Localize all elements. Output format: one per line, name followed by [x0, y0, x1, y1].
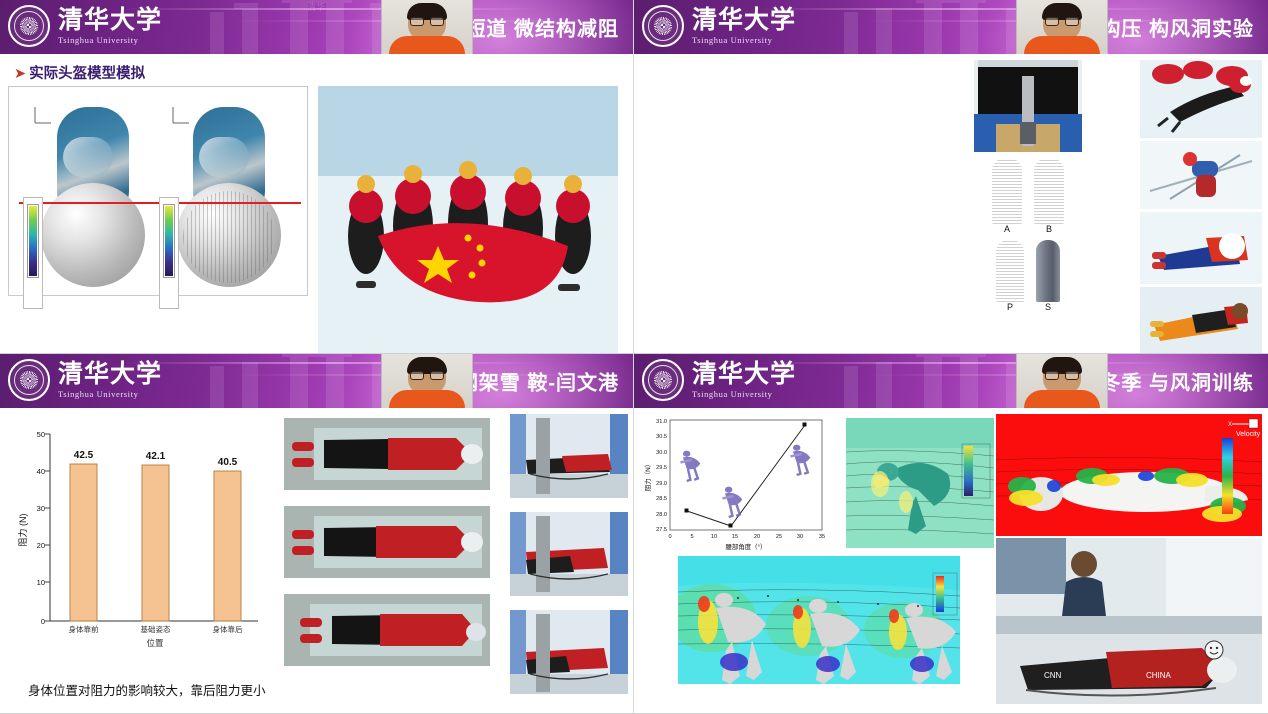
colorbar-right: [159, 197, 179, 309]
svg-text:CNN: CNN: [1044, 671, 1062, 680]
chart-caption: 身体位置对阻力的影响较大，靠后阻力更小: [28, 680, 266, 699]
university-name-en: Tsinghua University: [692, 35, 796, 45]
university-logo: 清华大学 Tsinghua University: [642, 5, 796, 47]
svg-text:30.0: 30.0: [656, 450, 667, 456]
photo-skeleton-side-view-1: [510, 414, 628, 498]
photo-skeleton-top-view-1: [284, 418, 490, 490]
bar-1: [142, 465, 169, 621]
slide-winter-training: 清华大学 Tsinghua University 冬季 与风洞训练 31.030…: [634, 354, 1268, 714]
slide-title: 冬季 与风洞训练: [1100, 367, 1254, 396]
slide-skeleton: 清华大学 Tsinghua University 钢架雪 鞍-闫文港 50403…: [0, 354, 634, 714]
cfd-luge-velocity-contour: Velocity X: [996, 414, 1262, 536]
svg-text:29.5: 29.5: [656, 465, 667, 471]
colorbar-label: Velocity: [1236, 431, 1261, 438]
colorbar-left: [23, 197, 43, 309]
skeleton-topview-column: [284, 418, 490, 666]
svg-text:身体靠前: 身体靠前: [69, 624, 99, 634]
glasses-icon: [1045, 17, 1079, 26]
photo-skeleton-side-view-3: [510, 610, 628, 694]
slide-title: 短道 微结构减阻: [465, 13, 619, 42]
cfd-helmet-panel: [8, 86, 308, 296]
cfd-helmet-dimpled: [169, 107, 289, 287]
svg-text:10: 10: [711, 534, 717, 540]
glasses-icon: [410, 371, 444, 380]
slide-short-track: 清华 清华大学 Tsinghua University 短道 微结构减阻: [0, 0, 634, 354]
x-axis-label: 腰部角度（°）: [726, 542, 767, 551]
photo-skeleton-athlete: [1140, 212, 1262, 284]
svg-text:20: 20: [754, 534, 760, 540]
slide-header: 清华大学 Tsinghua University 冬季 与风洞训练: [634, 354, 1268, 408]
slide-header: 清华 清华大学 Tsinghua University 短道 微结构减阻: [0, 0, 633, 54]
university-name-en: Tsinghua University: [58, 35, 162, 45]
cylinder-specimen-a: A: [992, 158, 1022, 234]
svg-text:身体靠后: 身体靠后: [213, 624, 243, 634]
slide-title: 钢架雪 鞍-闫文港: [458, 367, 619, 396]
university-logo: 清华大学 Tsinghua University: [8, 5, 162, 47]
axis-triad-icon: [13, 93, 313, 133]
svg-text:0: 0: [668, 534, 671, 540]
svg-text:CHINA: CHINA: [1146, 671, 1172, 680]
svg-text:28.0: 28.0: [656, 512, 667, 518]
svg-text:10: 10: [37, 578, 45, 587]
bar-2: [214, 471, 241, 621]
tsinghua-seal-icon: [8, 359, 50, 401]
svg-text:29.0: 29.0: [656, 481, 667, 487]
slide-dimple-wind-tunnel: 清华大学 Tsinghua University 凹坑结构压 构风洞实验: [634, 0, 1268, 354]
svg-text:清华: 清华: [307, 1, 325, 12]
university-name-en: Tsinghua University: [692, 389, 796, 399]
x-axis-label: 位置: [146, 638, 164, 648]
svg-text:42.5: 42.5: [74, 450, 94, 461]
presenter-webcam: [1016, 0, 1108, 54]
university-logo: 清华大学 Tsinghua University: [8, 359, 162, 401]
svg-text:20: 20: [37, 541, 45, 550]
presenter-webcam: [381, 354, 473, 408]
svg-text:0: 0: [41, 617, 45, 626]
university-name-cn: 清华大学: [692, 8, 796, 33]
university-logo: 清华大学 Tsinghua University: [642, 359, 796, 401]
slide-body: 31.030.530.0 29.529.028.5 28.027.5 阻力（N）…: [634, 408, 1268, 714]
university-name-en: Tsinghua University: [58, 389, 162, 399]
svg-text:31.0: 31.0: [656, 419, 667, 425]
photo-wind-tunnel-test-section: [974, 60, 1082, 152]
cfd-speed-skater-streamlines: [846, 418, 994, 548]
presenter-webcam: [381, 0, 473, 54]
drag-vs-position-chart: 504030 20100 阻力 (N) 42.542.140.5: [10, 420, 280, 670]
svg-text:28.5: 28.5: [656, 496, 667, 502]
svg-text:40.5: 40.5: [218, 457, 238, 468]
cfd-helmet-smooth: [33, 107, 153, 287]
university-name-cn: 清华大学: [58, 8, 162, 33]
svg-text:27.5: 27.5: [656, 527, 667, 533]
photo-skeleton-top-view-3: [284, 594, 490, 666]
slide-header: 清华大学 Tsinghua University 凹坑结构压 构风洞实验: [634, 0, 1268, 54]
bar-0: [70, 464, 97, 621]
university-name-cn: 清华大学: [692, 362, 796, 387]
photo-luge-athlete: [1140, 287, 1262, 353]
university-name-cn: 清华大学: [58, 362, 162, 387]
cylinder-specimen-grid: A B P S: [974, 158, 1082, 312]
svg-text:42.1: 42.1: [146, 451, 166, 462]
svg-text:基础姿态: 基础姿态: [141, 624, 171, 634]
photo-luge-wind-tunnel-test: CNNCHINA: [996, 538, 1262, 704]
cylinder-specimen-p: P: [996, 240, 1024, 312]
y-axis-label: 阻力 (N): [17, 514, 28, 547]
svg-text:30: 30: [797, 534, 803, 540]
slide-body: ➤实际头盔模型模拟: [0, 54, 633, 354]
photo-skeleton-top-view-2: [284, 506, 490, 578]
slide-header: 清华大学 Tsinghua University 钢架雪 鞍-闫文港: [0, 354, 633, 408]
svg-text:25: 25: [776, 534, 782, 540]
svg-text:5: 5: [690, 534, 693, 540]
svg-text:15: 15: [732, 534, 738, 540]
svg-text:50: 50: [37, 430, 45, 439]
glasses-icon: [1045, 371, 1079, 380]
photo-skeleton-side-view-2: [510, 512, 628, 596]
svg-text:X: X: [1228, 422, 1232, 428]
photo-ski-jumper: [1140, 141, 1262, 209]
cylinder-specimen-s: S: [1036, 240, 1060, 312]
tsinghua-seal-icon: [8, 5, 50, 47]
svg-text:40: 40: [37, 467, 45, 476]
svg-text:30.5: 30.5: [656, 434, 667, 440]
drag-vs-waist-angle-chart: 31.030.530.0 29.529.028.5 28.027.5 阻力（N）…: [638, 414, 838, 554]
tsinghua-seal-icon: [642, 5, 684, 47]
sports-photo-column: [1140, 60, 1262, 353]
cylinder-specimen-b: B: [1034, 158, 1064, 234]
header-streak: [123, 8, 543, 10]
y-axis-label: 阻力（N）: [643, 461, 652, 491]
slide-body: 504030 20100 阻力 (N) 42.542.140.5: [0, 408, 633, 714]
tsinghua-seal-icon: [642, 359, 684, 401]
bullet-arrow-icon: ➤: [14, 66, 26, 82]
slide-grid: 清华 清华大学 Tsinghua University 短道 微结构减阻: [0, 0, 1268, 714]
photo-short-track-team-flag: [318, 86, 618, 354]
photo-short-track-skater: [1140, 60, 1262, 138]
svg-text:35: 35: [819, 534, 825, 540]
bar-group: [70, 464, 241, 621]
skeleton-sideview-column: [510, 414, 628, 694]
section-heading: ➤实际头盔模型模拟: [14, 62, 145, 83]
x-axis-ticks: 身体靠前基础姿态身体靠后: [69, 624, 243, 634]
svg-text:30: 30: [37, 504, 45, 513]
slide-body: 胳膊 大腿 腰部 4.003.953.90 3.853.803.75: [634, 54, 1268, 354]
cfd-three-skaters-pressure: [678, 556, 960, 684]
presenter-webcam: [1016, 354, 1108, 408]
glasses-icon: [410, 17, 444, 26]
